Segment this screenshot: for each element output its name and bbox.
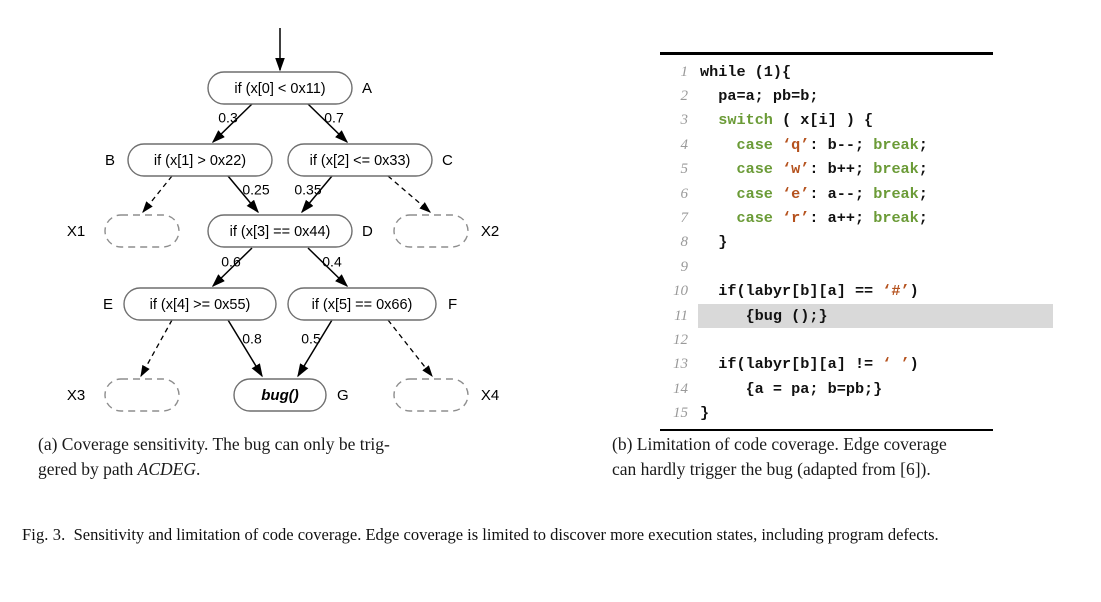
edge-weight-F-G: 0.5 <box>301 331 321 347</box>
code-token-plain: : a++; <box>809 209 873 227</box>
node-A[interactable]: if (x[0] < 0x11) A <box>208 72 372 104</box>
node-G-text: bug() <box>261 387 298 404</box>
code-token-plain: {a = pa; b=pb;} <box>700 380 882 398</box>
code-line: 4 case ‘q’: b--; break; <box>658 133 1053 157</box>
edge-weight-C-D: 0.35 <box>294 182 321 198</box>
code-line-text: {bug ();} <box>698 304 1053 328</box>
figure-3: if (x[0] < 0x11) A if (x[1] > 0x22) B if… <box>0 0 1101 602</box>
code-line: 15} <box>658 401 1053 425</box>
figure-number: Fig. 3. <box>22 525 65 544</box>
code-token-chr: ‘ ’ <box>882 355 909 373</box>
node-X1[interactable]: X1 <box>67 215 179 247</box>
edge-C-X2 <box>388 176 430 212</box>
code-rule-bottom <box>660 429 993 432</box>
code-token-plain: } <box>700 233 727 251</box>
edge-E-X3 <box>141 320 172 376</box>
code-token-plain: ; <box>919 209 928 227</box>
subcaption-b: (b) Limitation of code coverage. Edge co… <box>612 432 1082 482</box>
node-E[interactable]: if (x[4] >= 0x55) E <box>103 288 276 320</box>
code-line: 13 if(labyr[b][a] != ‘ ’) <box>658 352 1053 376</box>
node-X1-label: X1 <box>67 223 85 240</box>
figure-caption: Fig. 3. Sensitivity and limitation of co… <box>22 522 1082 548</box>
code-line: 6 case ‘e’: a--; break; <box>658 182 1053 206</box>
edge-weight-E-G: 0.8 <box>242 331 262 347</box>
code-line-number: 5 <box>658 157 698 181</box>
code-line-number: 1 <box>658 60 698 84</box>
subcaption-a: (a) Coverage sensitivity. The bug can on… <box>38 432 563 482</box>
node-E-text: if (x[4] >= 0x55) <box>150 297 251 313</box>
code-token-chr: ‘q’ <box>782 136 809 154</box>
node-C-label: C <box>442 152 453 169</box>
node-A-label: A <box>362 80 372 97</box>
code-token-plain: ) <box>910 282 919 300</box>
node-B[interactable]: if (x[1] > 0x22) B <box>105 144 272 176</box>
code-token-plain: while (1){ <box>700 63 791 81</box>
node-F[interactable]: if (x[5] == 0x66) F <box>288 288 457 320</box>
code-line-text: {a = pa; b=pb;} <box>698 377 1053 401</box>
code-token-plain: ; <box>919 185 928 203</box>
code-line: 10 if(labyr[b][a] == ‘#’) <box>658 279 1053 303</box>
code-line: 1while (1){ <box>658 60 1053 84</box>
node-E-label: E <box>103 296 113 313</box>
code-token-kw: case <box>736 209 772 227</box>
code-line-number: 13 <box>658 352 698 376</box>
node-F-text: if (x[5] == 0x66) <box>312 297 413 313</box>
code-line-text: } <box>698 401 1053 425</box>
code-token-kw: case <box>736 136 772 154</box>
node-F-label: F <box>448 296 457 313</box>
code-token-plain <box>773 136 782 154</box>
code-line-number: 11 <box>658 304 698 328</box>
edge-weight-D-E: 0.6 <box>221 254 241 270</box>
code-line-text: } <box>698 230 1053 254</box>
node-X2[interactable]: X2 <box>394 215 499 247</box>
code-line-text: case ‘r’: a++; break; <box>698 206 1053 230</box>
code-token-plain: : b--; <box>809 136 873 154</box>
code-line: 9 <box>658 255 1053 279</box>
edge-F-G <box>298 320 332 376</box>
code-line: 7 case ‘r’: a++; break; <box>658 206 1053 230</box>
code-line-number: 14 <box>658 377 698 401</box>
code-token-plain: ; <box>919 136 928 154</box>
code-token-plain <box>700 111 718 129</box>
control-flow-graph: if (x[0] < 0x11) A if (x[1] > 0x22) B if… <box>0 0 600 430</box>
node-X4-label: X4 <box>481 387 499 404</box>
code-line-number: 8 <box>658 230 698 254</box>
code-line-number: 3 <box>658 108 698 132</box>
node-D[interactable]: if (x[3] == 0x44) D <box>208 215 373 247</box>
code-line-number: 4 <box>658 133 698 157</box>
code-token-plain <box>773 209 782 227</box>
code-line-text: if(labyr[b][a] == ‘#’) <box>698 279 1053 303</box>
code-token-plain: } <box>700 404 709 422</box>
code-token-kw: break <box>873 209 919 227</box>
node-X3-label: X3 <box>67 387 85 404</box>
figure-caption-text: Sensitivity and limitation of code cover… <box>74 525 939 544</box>
code-token-kw: break <box>873 185 919 203</box>
code-line-text: case ‘e’: a--; break; <box>698 182 1053 206</box>
code-line-text: case ‘w’: b++; break; <box>698 157 1053 181</box>
code-listing: 1while (1){2 pa=a; pb=b;3 switch ( x[i] … <box>658 52 1053 431</box>
code-token-chr: ‘#’ <box>882 282 909 300</box>
code-token-plain: {bug ();} <box>700 307 828 325</box>
edge-E-G <box>228 320 262 376</box>
code-token-plain: : a--; <box>809 185 873 203</box>
code-token-plain: if(labyr[b][a] == <box>700 282 882 300</box>
code-line-number: 2 <box>658 84 698 108</box>
code-line-number: 12 <box>658 328 698 352</box>
code-line-text: while (1){ <box>698 60 1053 84</box>
code-line-number: 9 <box>658 255 698 279</box>
code-line: 8 } <box>658 230 1053 254</box>
node-X4[interactable]: X4 <box>394 379 499 411</box>
code-token-kw: case <box>736 185 772 203</box>
edge-weight-D-F: 0.4 <box>322 254 342 270</box>
code-token-plain <box>700 160 736 178</box>
code-token-plain <box>773 185 782 203</box>
code-line: 2 pa=a; pb=b; <box>658 84 1053 108</box>
code-token-plain <box>773 160 782 178</box>
node-X2-label: X2 <box>481 223 499 240</box>
code-token-plain <box>700 136 736 154</box>
code-line: 5 case ‘w’: b++; break; <box>658 157 1053 181</box>
node-D-label: D <box>362 223 373 240</box>
code-token-kw: break <box>873 160 919 178</box>
code-token-plain: ; <box>919 160 928 178</box>
node-B-text: if (x[1] > 0x22) <box>154 153 246 169</box>
subcaption-a-line2-post: . <box>196 459 200 479</box>
panel-b-code-listing: 1while (1){2 pa=a; pb=b;3 switch ( x[i] … <box>600 0 1101 430</box>
code-token-plain: if(labyr[b][a] != <box>700 355 882 373</box>
code-token-plain <box>700 185 736 203</box>
node-X3[interactable]: X3 <box>67 379 179 411</box>
subcaption-a-line1: (a) Coverage sensitivity. The bug can on… <box>38 434 390 454</box>
subcaption-a-path: ACDEG <box>138 459 196 479</box>
code-line: 3 switch ( x[i] ) { <box>658 108 1053 132</box>
code-token-plain: ( x[i] ) { <box>773 111 873 129</box>
node-G-bug[interactable]: bug() G <box>234 379 349 411</box>
edge-weight-A-B: 0.3 <box>218 110 238 126</box>
code-line: 11 {bug ();} <box>658 304 1053 328</box>
code-token-plain <box>700 209 736 227</box>
edge-weight-B-D: 0.25 <box>242 182 269 198</box>
subcaption-b-line1: (b) Limitation of code coverage. Edge co… <box>612 434 947 454</box>
code-lines: 1while (1){2 pa=a; pb=b;3 switch ( x[i] … <box>658 55 1053 426</box>
node-C[interactable]: if (x[2] <= 0x33) C <box>288 144 453 176</box>
code-line-number: 7 <box>658 206 698 230</box>
subcaption-a-line2-pre: gered by path <box>38 459 138 479</box>
code-token-kw: break <box>873 136 919 154</box>
node-C-text: if (x[2] <= 0x33) <box>310 153 411 169</box>
node-B-label: B <box>105 152 115 169</box>
edge-F-X4 <box>388 320 432 376</box>
code-token-kw: case <box>736 160 772 178</box>
code-line-text: case ‘q’: b--; break; <box>698 133 1053 157</box>
code-line-text <box>698 255 1053 279</box>
code-line: 14 {a = pa; b=pb;} <box>658 377 1053 401</box>
code-line-text <box>698 328 1053 352</box>
code-token-plain: : b++; <box>809 160 873 178</box>
node-D-text: if (x[3] == 0x44) <box>230 224 331 240</box>
code-token-chr: ‘e’ <box>782 185 809 203</box>
code-line-text: if(labyr[b][a] != ‘ ’) <box>698 352 1053 376</box>
edge-weight-A-C: 0.7 <box>324 110 344 126</box>
code-line-number: 15 <box>658 401 698 425</box>
node-A-text: if (x[0] < 0x11) <box>234 81 325 97</box>
code-token-kw: switch <box>718 111 773 129</box>
code-line-number: 10 <box>658 279 698 303</box>
node-G-label: G <box>337 387 349 404</box>
code-token-chr: ‘w’ <box>782 160 809 178</box>
code-line-text: pa=a; pb=b; <box>698 84 1053 108</box>
code-line-text: switch ( x[i] ) { <box>698 108 1053 132</box>
code-line-number: 6 <box>658 182 698 206</box>
panel-a-coverage-graph: if (x[0] < 0x11) A if (x[1] > 0x22) B if… <box>0 0 600 430</box>
code-token-chr: ‘r’ <box>782 209 809 227</box>
subcaption-b-line2: can hardly trigger the bug (adapted from… <box>612 459 931 479</box>
code-token-plain: ) <box>910 355 919 373</box>
edge-B-X1 <box>143 176 172 212</box>
code-token-plain: pa=a; pb=b; <box>700 87 818 105</box>
code-line: 12 <box>658 328 1053 352</box>
